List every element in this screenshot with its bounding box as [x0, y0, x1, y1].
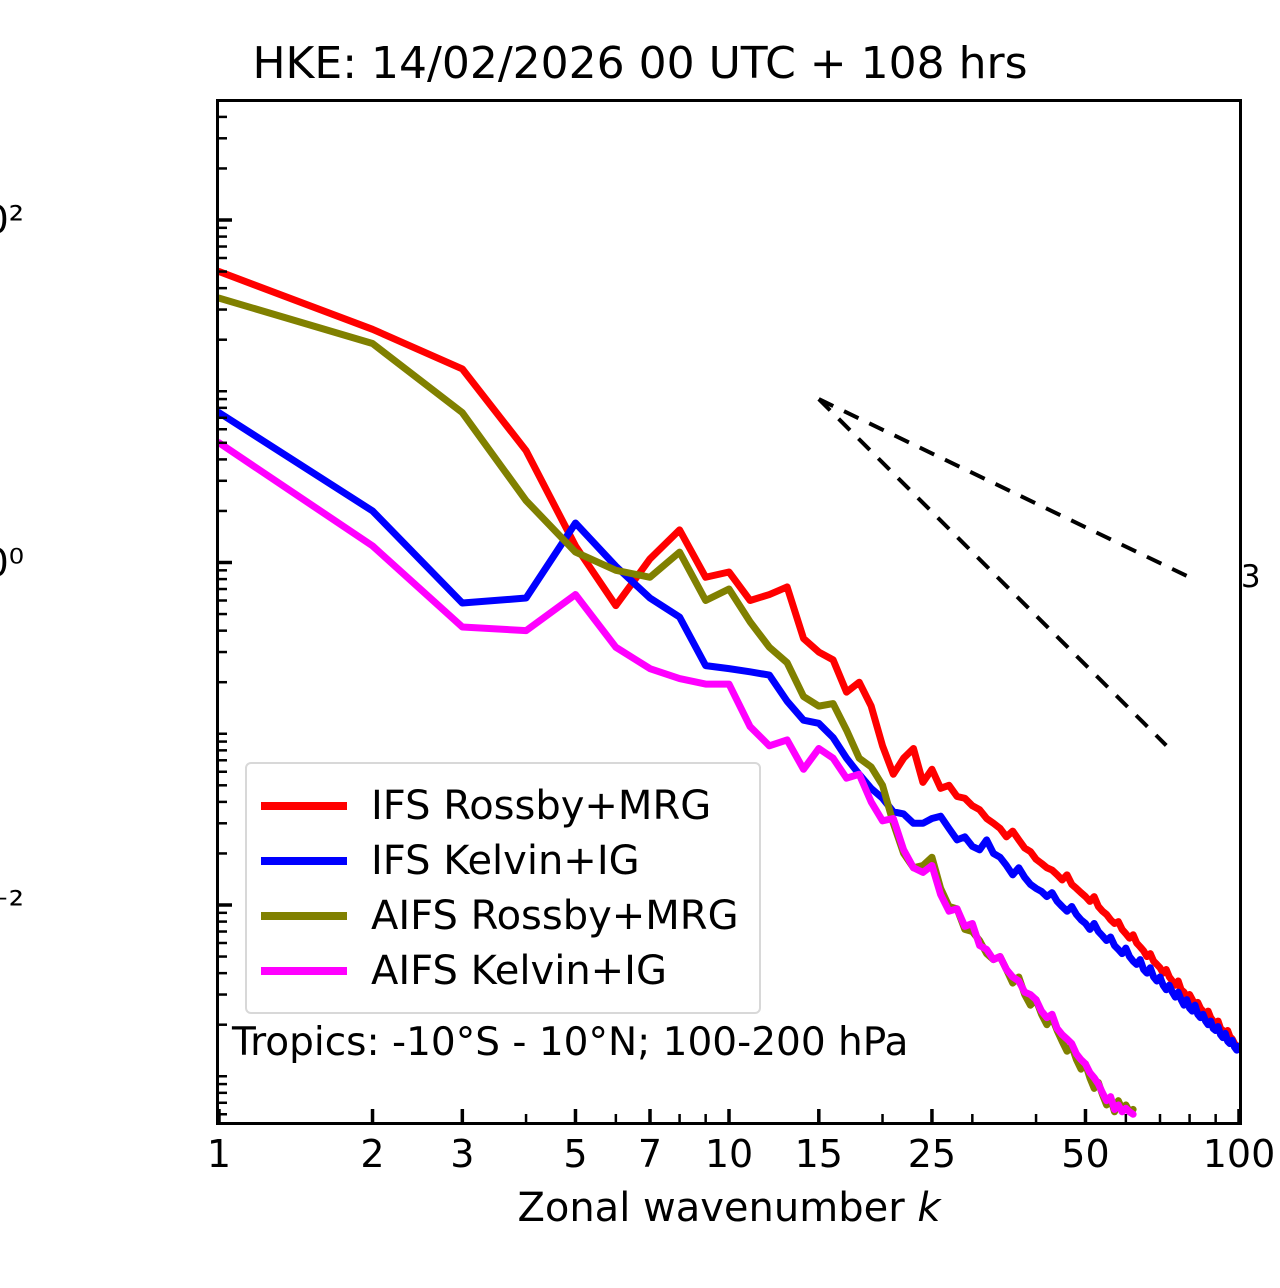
x-tick-label: 3 [450, 1132, 474, 1176]
chart-title: HKE: 14/02/2026 00 UTC + 108 hrs [0, 38, 1280, 89]
x-tick-label: 2 [360, 1132, 384, 1176]
legend-color-swatch [261, 967, 347, 975]
y-tick-label: 10⁻² [0, 883, 24, 927]
legend-item-3[interactable]: AIFS Kelvin+IG [261, 943, 739, 998]
legend-label: AIFS Rossby+MRG [371, 896, 739, 936]
x-tick-label: 10 [705, 1132, 753, 1176]
legend-item-1[interactable]: IFS Kelvin+IG [261, 833, 739, 888]
x-axis-label: Zonal wavenumber k [216, 1185, 1242, 1231]
legend-color-swatch [261, 802, 347, 810]
x-tick-label: 1 [207, 1132, 231, 1176]
x-axis-label-symbol: k [917, 1185, 940, 1231]
x-tick-label: 100 [1203, 1132, 1276, 1176]
x-tick-label: 7 [638, 1132, 662, 1176]
legend-item-0[interactable]: IFS Rossby+MRG [261, 778, 739, 833]
figure-container: HKE: 14/02/2026 00 UTC + 108 hrs Horizon… [0, 0, 1280, 1288]
legend-color-swatch [261, 912, 347, 920]
y-tick-label: 10² [0, 198, 24, 242]
x-axis-label-main: Zonal wavenumber [517, 1185, 917, 1231]
legend-label: AIFS Kelvin+IG [371, 951, 667, 991]
x-tick-label: 5 [563, 1132, 587, 1176]
y-tick-label: 10⁰ [0, 541, 24, 585]
legend-color-swatch [261, 857, 347, 865]
x-tick-label: 15 [795, 1132, 843, 1176]
legend: IFS Rossby+MRGIFS Kelvin+IGAIFS Rossby+M… [245, 762, 761, 1014]
slope-reference-line-0 [819, 399, 1190, 577]
x-tick-label: 25 [908, 1132, 956, 1176]
region-annotation: Tropics: -10°S - 10°N; 100-200 hPa [232, 1020, 908, 1065]
legend-label: IFS Rossby+MRG [371, 786, 711, 826]
legend-item-2[interactable]: AIFS Rossby+MRG [261, 888, 739, 943]
slope-reference-line-1 [819, 399, 1166, 745]
legend-label: IFS Kelvin+IG [371, 841, 640, 881]
x-tick-label: 50 [1061, 1132, 1109, 1176]
